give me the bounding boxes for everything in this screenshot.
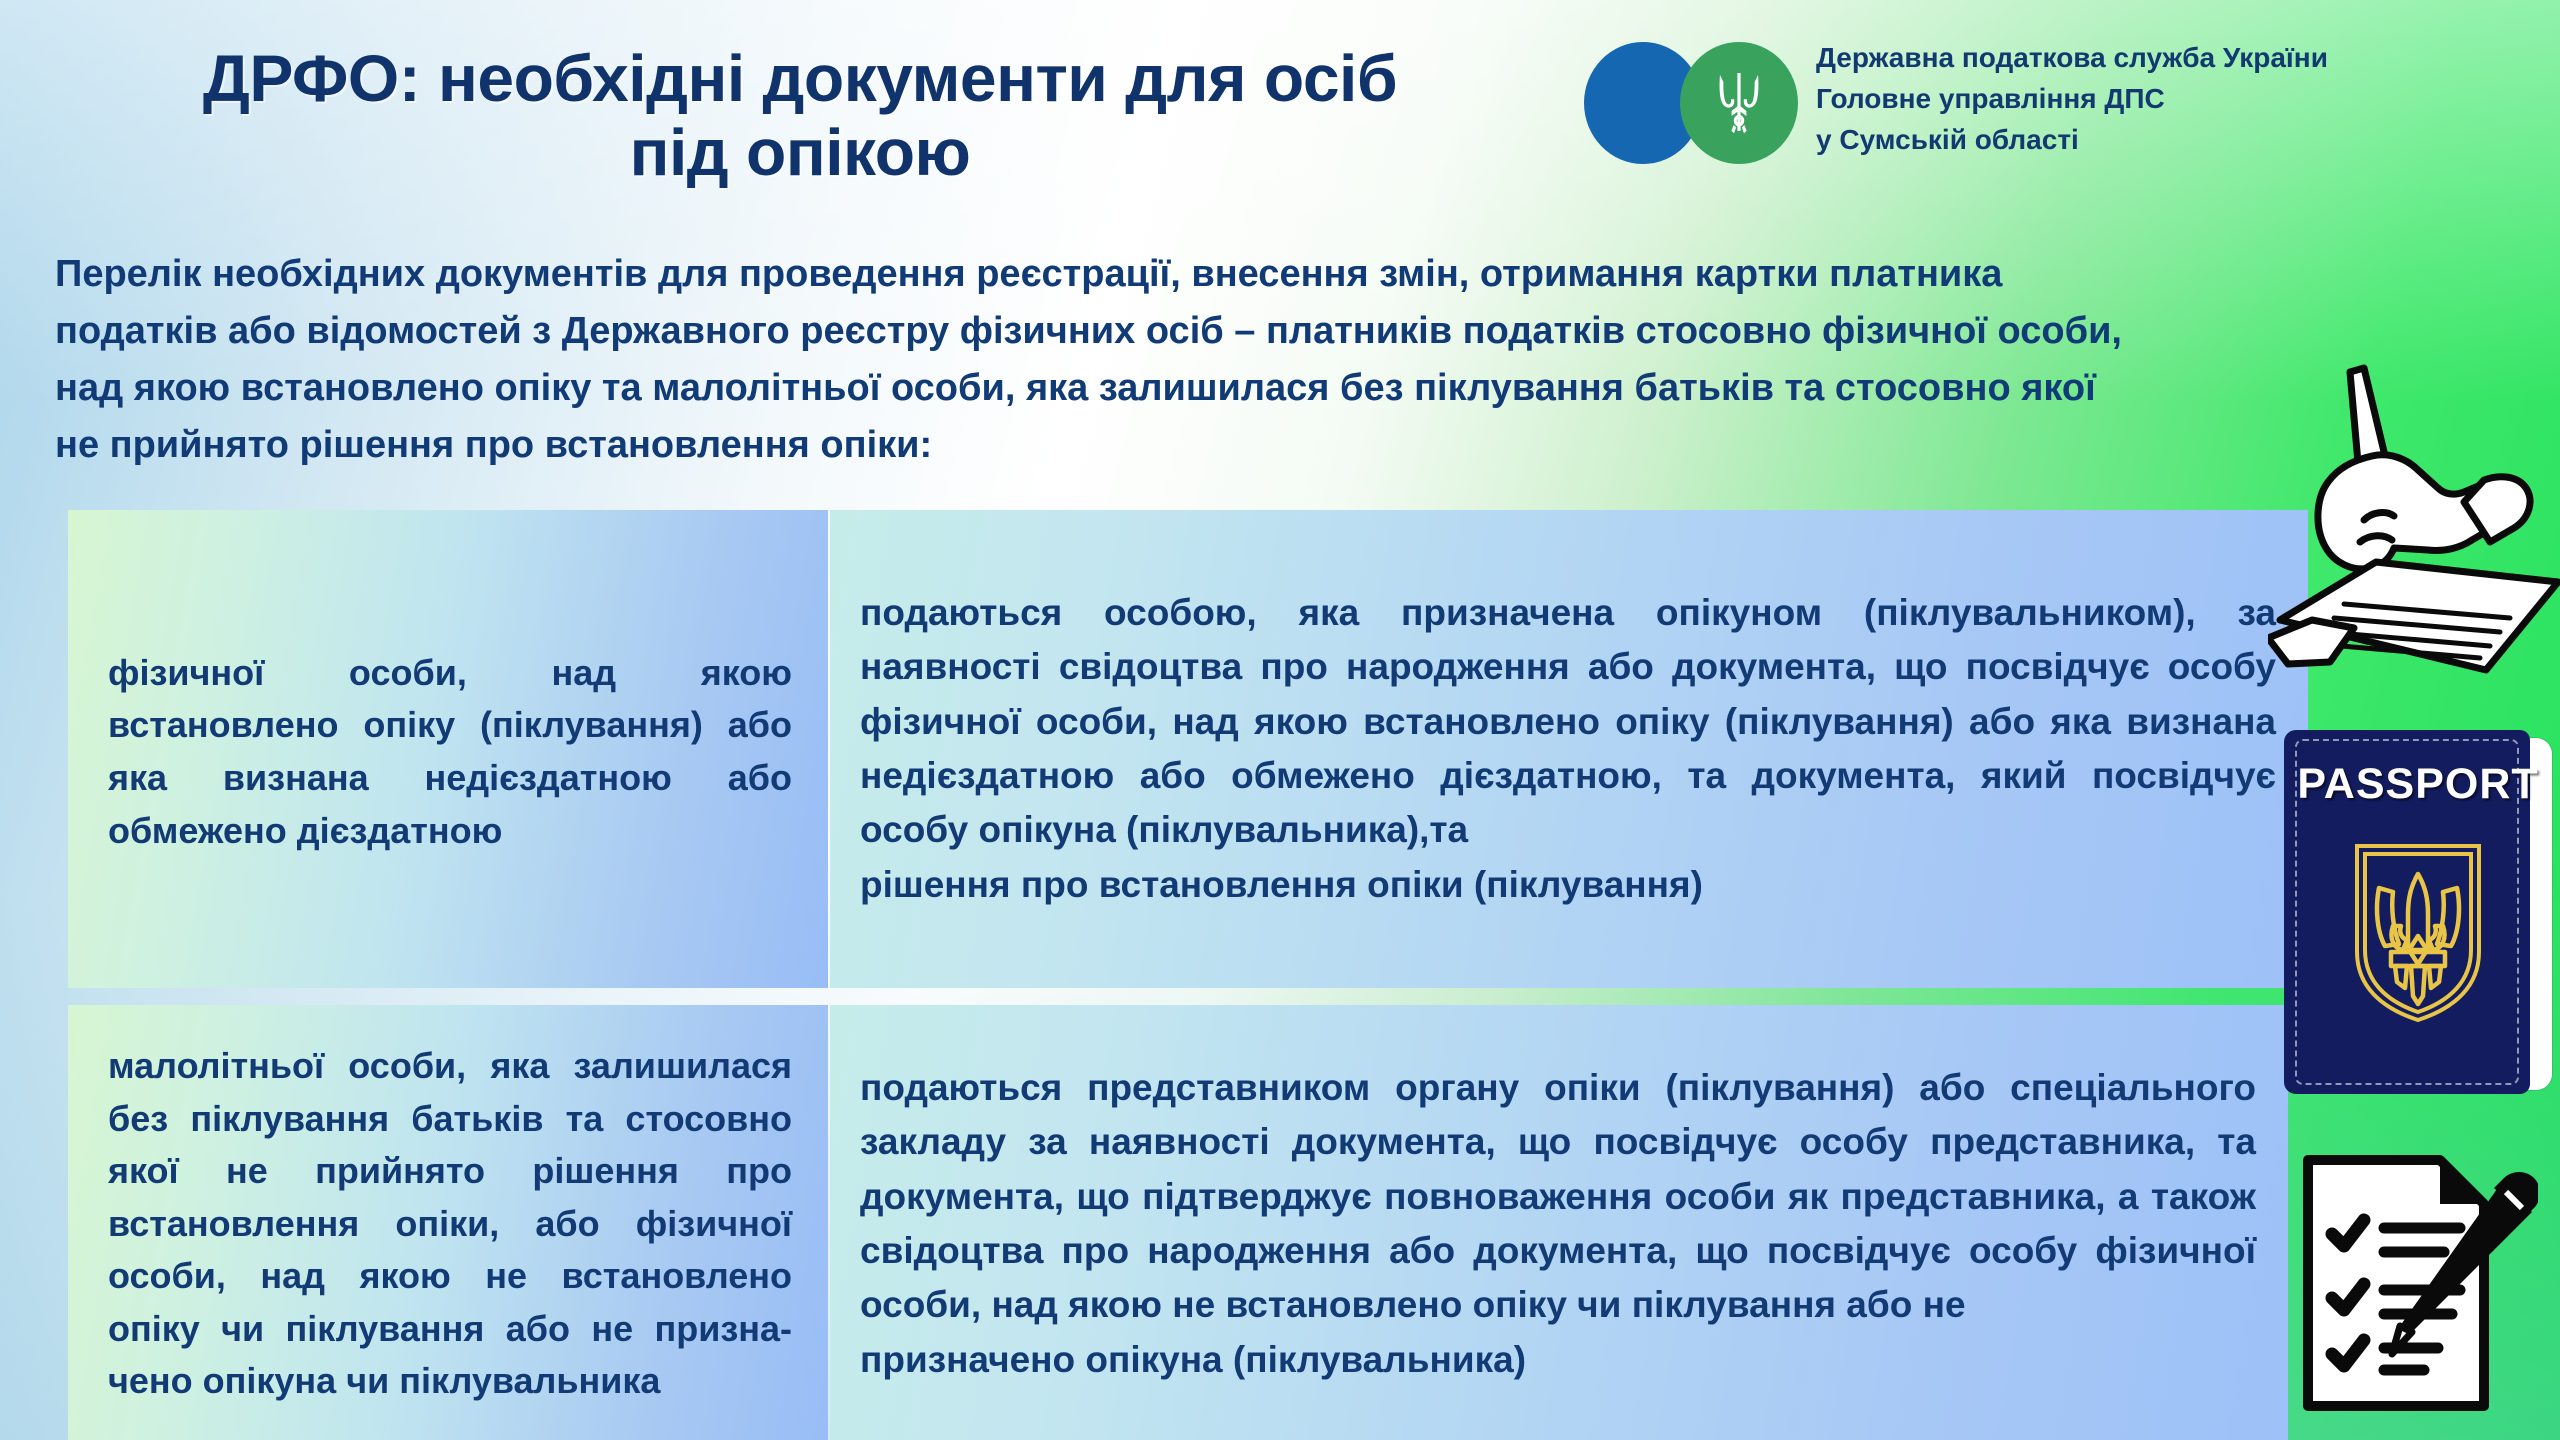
card-1-subject: фізичної особи, над якою встановлено опі… [68, 510, 828, 988]
intro-line-1: Перелік необхідних документів для провед… [55, 246, 2355, 303]
cards-grid: фізичної особи, над якою встановлено опі… [68, 510, 2308, 1440]
card-2-requirement-text: подаються представником органу опіки (пі… [860, 1061, 2256, 1333]
card-row-2: малолітньої особи, яка залишилася без пі… [68, 1005, 2308, 1440]
passport-icon: PASSPORT [2284, 730, 2552, 1098]
logo-line-1: Державна податкова служба України [1816, 38, 2328, 78]
intro-line-2: податків або відомостей з Державного реє… [55, 303, 2355, 360]
card-1-requirement-tail: рішення про встановлення опіки (піклуван… [860, 858, 2276, 912]
organization-logo: Державна податкова служба України Головн… [1584, 38, 2534, 178]
infographic-slide: ДРФО: необхідні документи для осіб під о… [0, 0, 2560, 1440]
card-2-subject: малолітньої особи, яка залишилася без пі… [68, 1005, 828, 1440]
ukraine-trident-icon [1713, 65, 1765, 141]
card-2-subject-text: малолітньої особи, яка залишилася без пі… [108, 1040, 792, 1408]
logo-text: Державна податкова служба України Головн… [1806, 38, 2328, 160]
checklist-with-pen-icon [2288, 1148, 2538, 1420]
intro-line-4: не прийнято рішення про встановлення опі… [55, 417, 2355, 474]
logo-line-2: Головне управління ДПС [1816, 79, 2328, 119]
logo-marks [1584, 38, 1806, 166]
card-2-requirement-tail: призначено опікуна (піклувальника) [860, 1333, 2256, 1387]
page-title-line1: ДРФО: необхідні документи для осіб [70, 42, 1530, 116]
intro-line-3: над якою встановлено опіку та малолітньо… [55, 360, 2355, 417]
card-2-requirement: подаються представником органу опіки (пі… [830, 1005, 2288, 1440]
hand-writing-document-icon [2268, 352, 2560, 702]
card-1-requirement: подаються особою, яка призначена опікуно… [830, 510, 2308, 988]
card-row-1: фізичної особи, над якою встановлено опі… [68, 510, 2308, 988]
passport-label: PASSPORT [2284, 760, 2552, 809]
card-1-requirement-text: подаються особою, яка призначена опікуно… [860, 586, 2276, 858]
green-circle-icon [1680, 42, 1798, 164]
page-title: ДРФО: необхідні документи для осіб під о… [70, 42, 1530, 190]
card-1-subject-text: фізичної особи, над якою встановлено опі… [108, 647, 792, 857]
ukraine-coat-of-arms-icon [2349, 840, 2487, 1026]
logo-line-3: у Сумській області [1816, 120, 2328, 160]
page-title-line2: під опікою [70, 116, 1530, 190]
intro-paragraph: Перелік необхідних документів для провед… [55, 246, 2355, 474]
